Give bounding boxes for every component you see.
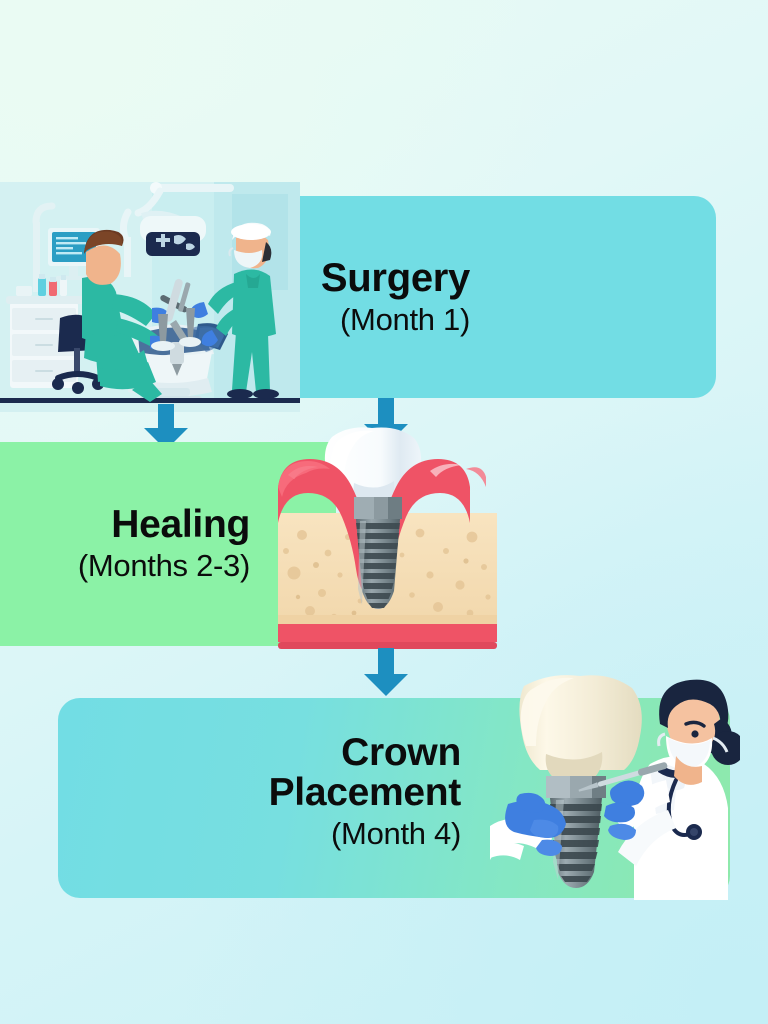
implant-in-bone-cross-section-illustration <box>270 425 505 657</box>
step-label-crown: Crown Placement (Month 4) <box>0 733 461 851</box>
step-subtitle-surgery: (Month 1) <box>0 303 470 338</box>
step-label-healing: Healing (Months 2-3) <box>0 505 250 583</box>
step-title-surgery: Surgery <box>0 258 470 299</box>
step-title-healing: Healing <box>0 505 250 545</box>
step-title-crown-line1: Crown <box>0 733 461 773</box>
arrow-healing-to-crown-icon <box>356 648 416 698</box>
step-label-surgery: Surgery (Month 1) <box>0 258 470 338</box>
step-subtitle-crown: (Month 4) <box>0 817 461 852</box>
step-title-crown-line2: Placement <box>0 773 461 813</box>
step-subtitle-healing: (Months 2-3) <box>0 549 250 584</box>
infographic-canvas: Surgery (Month 1) <box>0 0 768 1024</box>
dentist-with-crown-model-illustration <box>490 672 740 900</box>
